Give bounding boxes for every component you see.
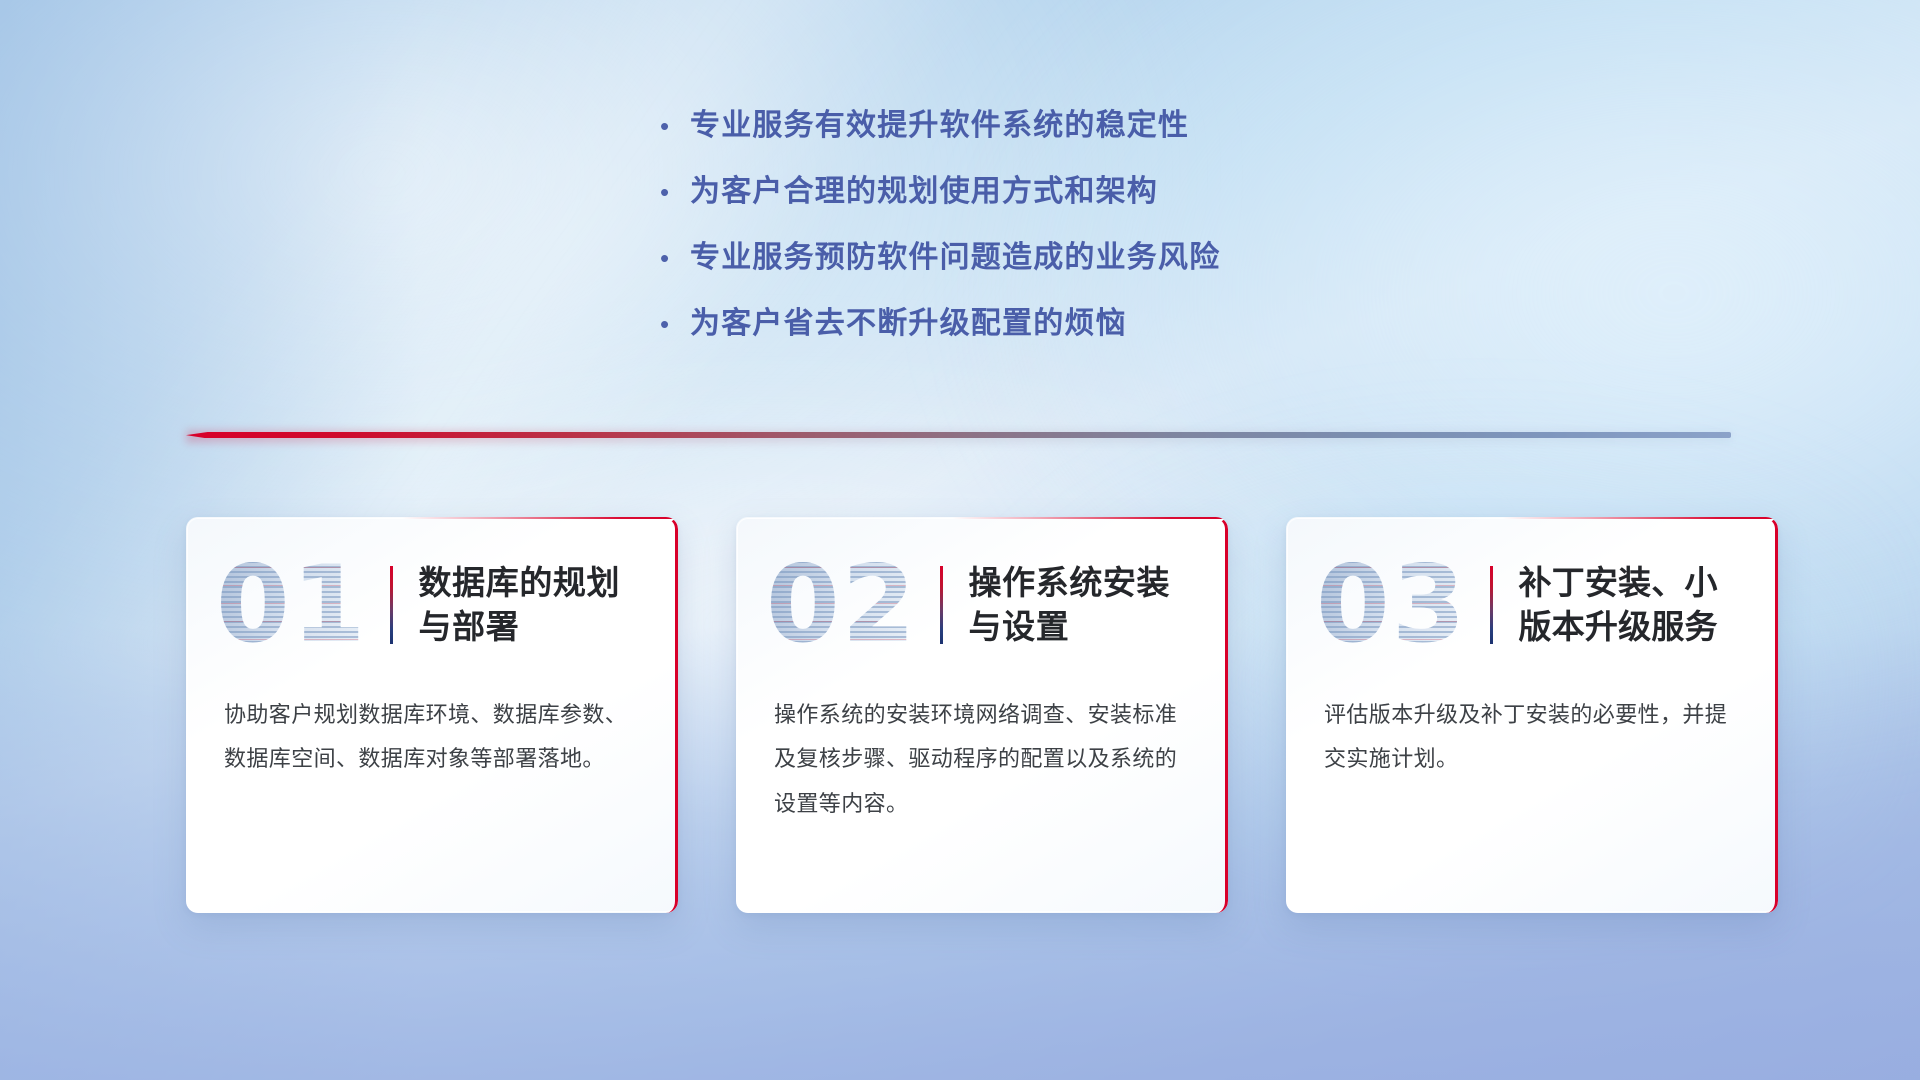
- card-title: 补丁安装、小版本升级服务: [1519, 561, 1744, 649]
- bullet-item-label: 专业服务有效提升软件系统的稳定性: [690, 108, 1189, 144]
- bullet-item: • 专业服务有效提升软件系统的稳定性: [660, 108, 1220, 144]
- service-card-list: 01 数据库的规划与部署 协助客户规划数据库环境、数据库参数、数据库空间、数据库…: [186, 517, 1778, 913]
- card-number-watermark: 03: [1316, 552, 1468, 658]
- card-title: 数据库的规划与部署: [419, 561, 644, 649]
- service-card-02[interactable]: 02 操作系统安装与设置 操作系统的安装环境网络调查、安装标准及复核步骤、驱动程…: [736, 517, 1228, 913]
- bullet-item-label: 为客户省去不断升级配置的烦恼: [690, 306, 1127, 342]
- card-header: 01 数据库的规划与部署: [186, 517, 678, 693]
- card-title: 操作系统安装与设置: [969, 561, 1194, 649]
- bullet-dot-icon: •: [660, 113, 690, 139]
- bullet-item-label: 专业服务预防软件问题造成的业务风险: [690, 240, 1220, 276]
- card-title-rule: [1490, 566, 1493, 644]
- service-card-01[interactable]: 01 数据库的规划与部署 协助客户规划数据库环境、数据库参数、数据库空间、数据库…: [186, 517, 678, 913]
- bullet-dot-icon: •: [660, 245, 690, 271]
- card-title-rule: [940, 566, 943, 644]
- card-title-rule: [390, 566, 393, 644]
- service-card-03[interactable]: 03 补丁安装、小版本升级服务 评估版本升级及补丁安装的必要性，并提交实施计划。: [1286, 517, 1778, 913]
- card-body-text: 协助客户规划数据库环境、数据库参数、数据库空间、数据库对象等部署落地。: [186, 693, 678, 782]
- card-body-text: 评估版本升级及补丁安装的必要性，并提交实施计划。: [1286, 693, 1778, 782]
- section-divider: [186, 430, 1731, 443]
- bullet-item-label: 为客户合理的规划使用方式和架构: [690, 174, 1158, 210]
- divider-bar: [186, 432, 1731, 438]
- bullet-dot-icon: •: [660, 179, 690, 205]
- card-number-watermark: 01: [216, 552, 368, 658]
- bullet-item: • 专业服务预防软件问题造成的业务风险: [660, 240, 1220, 276]
- card-number-watermark: 02: [766, 552, 918, 658]
- bullet-item: • 为客户省去不断升级配置的烦恼: [660, 306, 1220, 342]
- card-header: 02 操作系统安装与设置: [736, 517, 1228, 693]
- bullet-item: • 为客户合理的规划使用方式和架构: [660, 174, 1220, 210]
- benefits-bullet-list: • 专业服务有效提升软件系统的稳定性 • 为客户合理的规划使用方式和架构 • 专…: [660, 108, 1220, 342]
- card-header: 03 补丁安装、小版本升级服务: [1286, 517, 1778, 693]
- bullet-dot-icon: •: [660, 311, 690, 337]
- card-body-text: 操作系统的安装环境网络调查、安装标准及复核步骤、驱动程序的配置以及系统的设置等内…: [736, 693, 1228, 826]
